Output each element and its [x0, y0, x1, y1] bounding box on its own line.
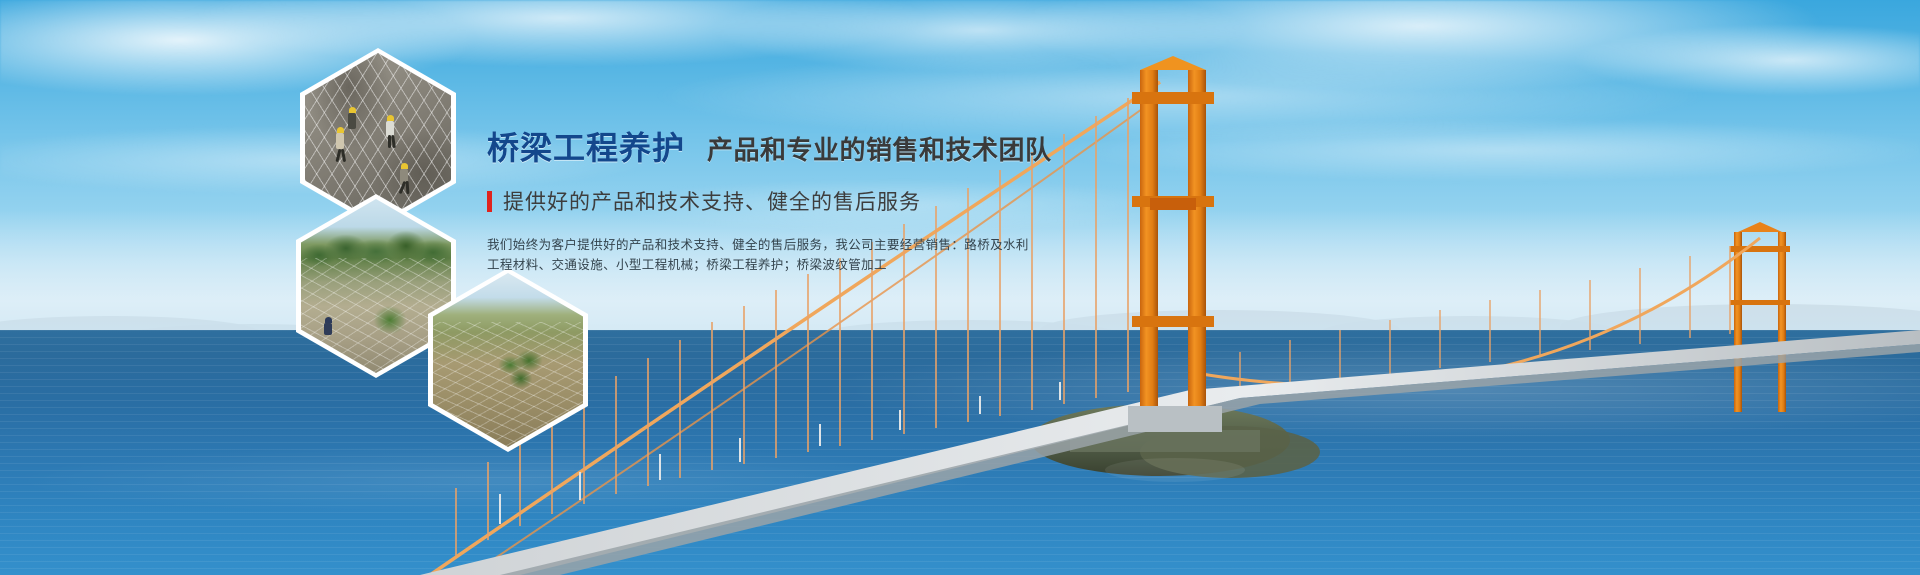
- suspension-bridge-illustration: [0, 0, 1920, 575]
- description-line-1: 我们始终为客户提供好的产品和技术支持、健全的售后服务，我公司主要经营销售：路桥及…: [487, 235, 1047, 255]
- hero-banner: 桥梁工程养护 产品和专业的销售和技术团队 提供好的产品和技术支持、健全的售后服务…: [0, 0, 1920, 575]
- headline-secondary: 产品和专业的销售和技术团队: [707, 130, 1052, 167]
- description-line-2: 工程材料、交通设施、小型工程机械；桥梁工程养护；桥梁波纹管加工: [487, 255, 1047, 275]
- subheadline-row: 提供好的产品和技术支持、健全的售后服务: [487, 186, 1047, 216]
- accent-bar: [487, 191, 492, 212]
- bridge-tower-far: [1730, 222, 1790, 412]
- hex-photo-slope-sapling: [428, 268, 588, 452]
- subheadline-text: 提供好的产品和技术支持、健全的售后服务: [503, 186, 921, 216]
- headline-primary: 桥梁工程养护: [487, 123, 685, 169]
- headline-row: 桥梁工程养护 产品和专业的销售和技术团队: [487, 123, 1047, 169]
- description-paragraph: 我们始终为客户提供好的产品和技术支持、健全的售后服务，我公司主要经营销售：路桥及…: [487, 235, 1047, 275]
- banner-text-block: 桥梁工程养护 产品和专业的销售和技术团队 提供好的产品和技术支持、健全的售后服务…: [487, 123, 1047, 275]
